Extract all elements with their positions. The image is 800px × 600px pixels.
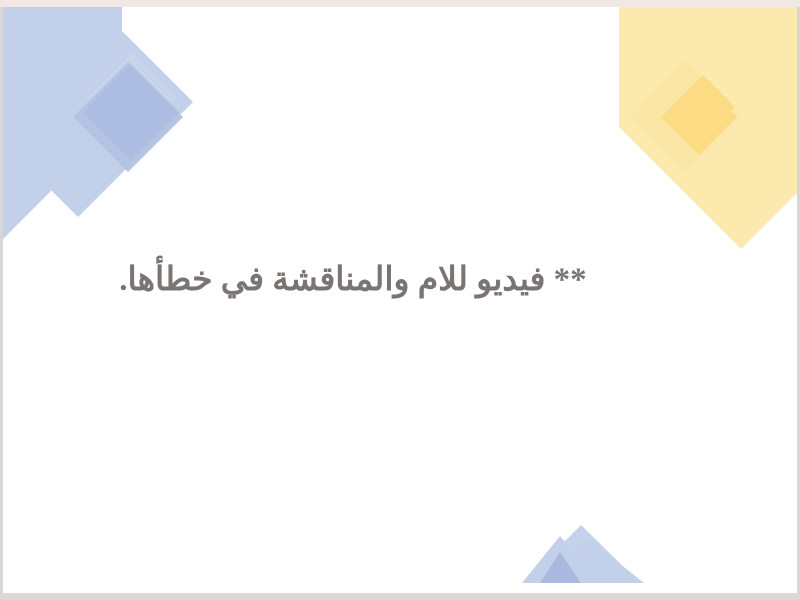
large-blue-diamond-shape (3, 7, 122, 277)
blue-overlap-top-wedge (83, 64, 179, 160)
yellow-overlap-wedge (661, 79, 737, 155)
large-blue-diamond-body (3, 7, 193, 217)
top-left-blue-diamond-cluster (3, 7, 193, 277)
bottom-center-triangle-cluster (522, 525, 644, 583)
slide-frame: ** فيديو للام والمناقشة في خطأها. (0, 7, 800, 600)
top-edge-band (0, 0, 800, 7)
large-blue-triangle-shape (554, 537, 644, 583)
large-yellow-triangle-shape (619, 7, 797, 249)
small-yellow-diamond-shape-2 (631, 62, 741, 172)
slide-text-block: ** فيديو للام والمناقشة في خطأها. (63, 259, 643, 301)
large-blue-triangle-body (523, 525, 640, 583)
slide-body-text: ** فيديو للام والمناقشة في خطأها. (63, 259, 643, 301)
small-blue-diamond-shape-2 (73, 62, 183, 172)
small-blue-triangle-shape (522, 536, 599, 583)
blue-triangle-overlap-wedge (540, 552, 581, 583)
small-yellow-diamond-shape (643, 60, 729, 146)
small-blue-diamond-shape (88, 52, 178, 142)
yellow-overlap-wedge-2 (671, 75, 735, 139)
slide-canvas: ** فيديو للام والمناقشة في خطأها. (0, 0, 800, 600)
top-right-yellow-diamond-cluster (619, 7, 797, 249)
blue-overlap-wedge (73, 62, 183, 172)
